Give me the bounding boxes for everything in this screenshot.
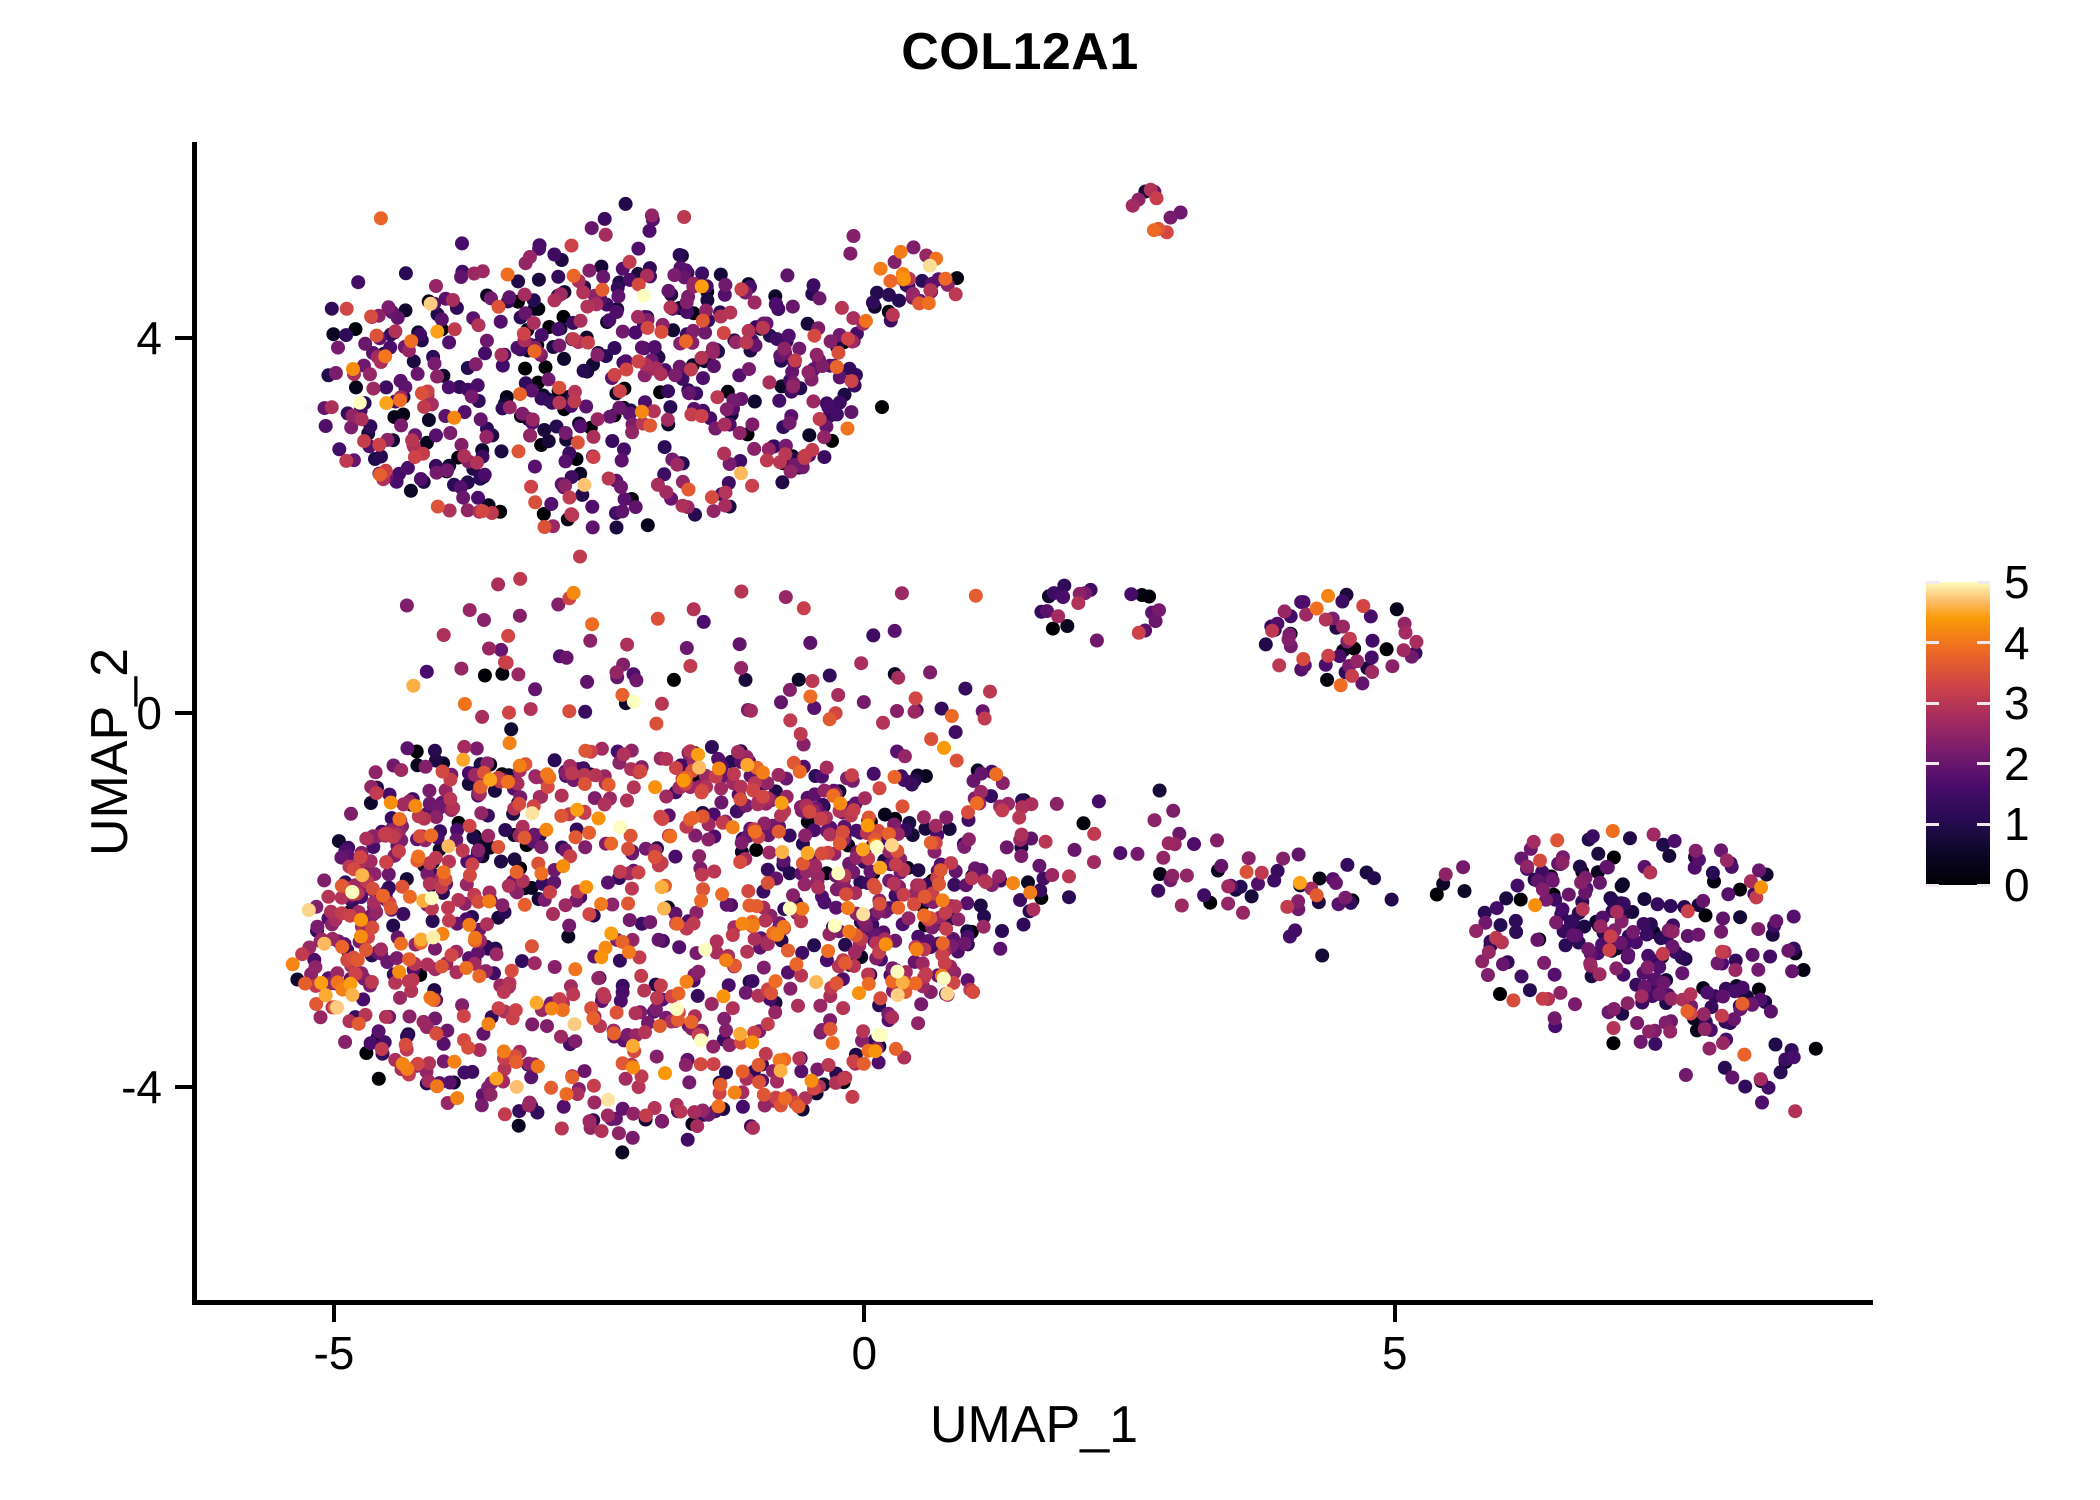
scatter-point	[539, 360, 553, 374]
scatter-point	[808, 859, 822, 873]
scatter-point	[691, 748, 705, 762]
scatter-point	[568, 1017, 582, 1031]
scatter-point	[1602, 943, 1616, 957]
scatter-point	[822, 1058, 836, 1072]
scatter-point	[490, 947, 504, 961]
scatter-point	[365, 975, 379, 989]
scatter-point	[909, 976, 923, 990]
scatter-point	[614, 480, 628, 494]
scatter-point	[648, 780, 662, 794]
scatter-point	[873, 897, 887, 911]
scatter-point	[565, 508, 579, 522]
scatter-point	[846, 311, 860, 325]
scatter-point	[446, 293, 460, 307]
scatter-point	[830, 360, 844, 374]
scatter-point	[662, 284, 676, 298]
scatter-point	[683, 659, 697, 673]
scatter-point	[331, 341, 345, 355]
scatter-point	[604, 837, 618, 851]
scatter-point	[672, 940, 686, 954]
scatter-point	[610, 521, 624, 535]
scatter-point	[790, 957, 804, 971]
scatter-point	[366, 382, 380, 396]
scatter-point	[462, 918, 476, 932]
scatter-point	[734, 661, 748, 675]
scatter-point	[353, 396, 367, 410]
scatter-point	[868, 881, 882, 895]
scatter-point	[1380, 642, 1394, 656]
scatter-point	[1456, 860, 1470, 874]
scatter-point	[1754, 880, 1768, 894]
colorbar-tick-label: 5	[2004, 555, 2030, 609]
scatter-point	[379, 380, 393, 394]
scatter-point	[404, 484, 418, 498]
scatter-point	[1039, 835, 1053, 849]
scatter-point	[802, 365, 816, 379]
scatter-point	[919, 967, 933, 981]
scatter-point	[734, 585, 748, 599]
scatter-point	[939, 906, 953, 920]
colorbar-tick-mark	[1977, 581, 1990, 584]
x-tick-label: 5	[1382, 1326, 1408, 1380]
scatter-point	[494, 855, 508, 869]
scatter-point	[1684, 987, 1698, 1001]
scatter-point	[917, 810, 931, 824]
scatter-point	[528, 495, 542, 509]
scatter-point	[1481, 968, 1495, 982]
scatter-point	[483, 773, 497, 787]
scatter-point	[740, 758, 754, 772]
scatter-point	[698, 943, 712, 957]
scatter-point	[651, 478, 665, 492]
scatter-point	[1787, 1050, 1801, 1064]
scatter-point	[528, 344, 542, 358]
scatter-point	[346, 362, 360, 376]
scatter-point	[791, 1100, 805, 1114]
scatter-point	[695, 409, 709, 423]
scatter-point	[1809, 1042, 1823, 1056]
scatter-point	[463, 868, 477, 882]
scatter-point	[602, 778, 616, 792]
scatter-point	[736, 917, 750, 931]
scatter-point	[540, 767, 554, 781]
scatter-point	[286, 957, 300, 971]
scatter-point	[388, 324, 402, 338]
scatter-point	[1152, 603, 1166, 617]
scatter-point	[631, 354, 645, 368]
scatter-point	[376, 889, 390, 903]
scatter-point	[659, 790, 673, 804]
scatter-point	[354, 930, 368, 944]
scatter-point	[1367, 871, 1381, 885]
scatter-point	[1166, 804, 1180, 818]
scatter-point	[831, 688, 845, 702]
scatter-point	[761, 1017, 775, 1031]
scatter-point	[716, 989, 730, 1003]
scatter-point	[458, 697, 472, 711]
scatter-point	[1769, 1038, 1783, 1052]
scatter-point	[402, 952, 416, 966]
scatter-point	[937, 972, 951, 986]
scatter-point	[543, 885, 557, 899]
scatter-point	[1439, 867, 1453, 881]
scatter-point	[886, 308, 900, 322]
scatter-point	[429, 810, 443, 824]
scatter-point	[815, 847, 829, 861]
scatter-point	[345, 885, 359, 899]
scatter-point	[817, 430, 831, 444]
scatter-point	[670, 1002, 684, 1016]
scatter-point	[623, 255, 637, 269]
scatter-point	[783, 902, 797, 916]
scatter-point	[581, 336, 595, 350]
scatter-point	[463, 819, 477, 833]
scatter-point	[535, 867, 549, 881]
scatter-point	[599, 228, 613, 242]
scatter-point	[653, 1019, 667, 1033]
scatter-point	[1716, 1036, 1730, 1050]
scatter-point	[445, 948, 459, 962]
scatter-point	[326, 327, 340, 341]
scatter-point	[742, 324, 756, 338]
scatter-point	[518, 898, 532, 912]
scatter-point	[627, 780, 641, 794]
scatter-point	[1621, 948, 1635, 962]
scatter-point	[528, 682, 542, 696]
scatter-point	[1012, 811, 1026, 825]
scatter-point	[1356, 599, 1370, 613]
scatter-point	[1210, 833, 1224, 847]
scatter-point	[856, 842, 870, 856]
scatter-point	[1150, 191, 1164, 205]
scatter-point	[929, 819, 943, 833]
scatter-point	[587, 1096, 601, 1110]
scatter-point	[586, 520, 600, 534]
scatter-point	[621, 897, 635, 911]
y-axis-line	[192, 142, 197, 1305]
scatter-point	[429, 279, 443, 293]
scatter-point	[870, 840, 884, 854]
scatter-point	[764, 986, 778, 1000]
scatter-point	[923, 259, 937, 273]
scatter-point	[1334, 678, 1348, 692]
scatter-point	[539, 823, 553, 837]
scatter-point	[962, 832, 976, 846]
scatter-point	[741, 884, 755, 898]
scatter-point	[505, 964, 519, 978]
scatter-point	[823, 712, 837, 726]
scatter-point	[691, 965, 705, 979]
scatter-point	[833, 796, 847, 810]
scatter-point	[650, 991, 664, 1005]
scatter-point	[655, 325, 669, 339]
scatter-point	[563, 491, 577, 505]
scatter-point	[512, 444, 526, 458]
scatter-point	[727, 767, 741, 781]
scatter-point	[456, 753, 470, 767]
scatter-point	[379, 396, 393, 410]
scatter-point	[841, 901, 855, 915]
scatter-point	[613, 384, 627, 398]
scatter-point	[1755, 1096, 1769, 1110]
scatter-point	[578, 1064, 592, 1078]
scatter-point	[1737, 1048, 1751, 1062]
scatter-point	[745, 479, 759, 493]
scatter-point	[544, 497, 558, 511]
scatter-point	[524, 702, 538, 716]
scatter-point	[883, 274, 897, 288]
scatter-point	[1278, 604, 1292, 618]
scatter-point	[793, 765, 807, 779]
scatter-point	[481, 829, 495, 843]
colorbar-legend: 543210	[1920, 575, 2090, 895]
scatter-point	[615, 1145, 629, 1159]
scatter-point	[1697, 1007, 1711, 1021]
y-tick-label: 0	[136, 686, 162, 740]
scatter-point	[374, 450, 388, 464]
scatter-point	[634, 969, 648, 983]
scatter-point	[922, 296, 936, 310]
y-tick-mark	[175, 711, 192, 715]
scatter-point	[1068, 843, 1082, 857]
scatter-point	[857, 1057, 871, 1071]
scatter-point	[707, 865, 721, 879]
scatter-point	[1343, 632, 1357, 646]
scatter-point	[552, 381, 566, 395]
scatter-point	[298, 977, 312, 991]
scatter-point	[691, 989, 705, 1003]
scatter-point	[470, 742, 484, 756]
scatter-point	[587, 430, 601, 444]
scatter-point	[1014, 849, 1028, 863]
scatter-point	[650, 1050, 664, 1064]
scatter-point	[781, 944, 795, 958]
scatter-point	[435, 312, 449, 326]
scatter-point	[372, 1072, 386, 1086]
scatter-point	[546, 907, 560, 921]
scatter-point	[1017, 918, 1031, 932]
scatter-point	[977, 920, 991, 934]
scatter-point	[598, 798, 612, 812]
scatter-point	[655, 880, 669, 894]
scatter-point	[447, 411, 461, 425]
scatter-point	[937, 741, 951, 755]
scatter-point	[876, 716, 890, 730]
scatter-point	[578, 705, 592, 719]
scatter-point	[649, 717, 663, 731]
scatter-point	[554, 809, 568, 823]
colorbar-tick-mark	[1926, 884, 1939, 887]
scatter-point	[555, 789, 569, 803]
scatter-point	[626, 1107, 640, 1121]
scatter-point	[723, 306, 737, 320]
scatter-point	[1666, 925, 1680, 939]
scatter-point	[783, 416, 797, 430]
scatter-point	[325, 302, 339, 316]
scatter-point	[924, 732, 938, 746]
scatter-point	[1615, 879, 1629, 893]
scatter-point	[338, 1035, 352, 1049]
scatter-point	[768, 1005, 782, 1019]
scatter-point	[523, 429, 537, 443]
scatter-point	[1788, 1104, 1802, 1118]
scatter-point	[1214, 859, 1228, 873]
scatter-point	[455, 236, 469, 250]
scatter-point	[695, 351, 709, 365]
scatter-point	[1553, 986, 1567, 1000]
scatter-point	[643, 915, 657, 929]
scatter-point	[641, 321, 655, 335]
scatter-point	[425, 891, 439, 905]
scatter-point	[497, 985, 511, 999]
scatter-point	[627, 695, 641, 709]
scatter-point	[1664, 899, 1678, 913]
scatter-point	[503, 736, 517, 750]
scatter-point	[1642, 1025, 1656, 1039]
scatter-point	[582, 264, 596, 278]
scatter-point	[422, 784, 436, 798]
scatter-point	[887, 877, 901, 891]
scatter-point	[325, 400, 339, 414]
scatter-point	[345, 988, 359, 1002]
scatter-point	[1045, 868, 1059, 882]
scatter-point	[780, 268, 794, 282]
scatter-point	[873, 781, 887, 795]
scatter-point	[1297, 595, 1311, 609]
scatter-point	[719, 953, 733, 967]
scatter-point	[710, 390, 724, 404]
scatter-point	[911, 1016, 925, 1030]
scatter-point	[835, 301, 849, 315]
y-tick-label: 4	[136, 311, 162, 365]
scatter-point	[698, 326, 712, 340]
scatter-point	[979, 875, 993, 889]
scatter-point	[680, 975, 694, 989]
scatter-point	[357, 434, 371, 448]
scatter-point	[1282, 633, 1296, 647]
scatter-point	[774, 695, 788, 709]
scatter-point	[399, 266, 413, 280]
scatter-point	[1132, 626, 1146, 640]
scatter-point	[647, 404, 661, 418]
scatter-point	[668, 368, 682, 382]
scatter-point	[1335, 595, 1349, 609]
scatter-point	[1549, 915, 1563, 929]
scatter-point	[498, 823, 512, 837]
scatter-point	[419, 760, 433, 774]
scatter-point	[420, 958, 434, 972]
scatter-point	[1265, 624, 1279, 638]
scatter-point	[374, 211, 388, 225]
scatter-point	[951, 912, 965, 926]
scatter-point	[625, 882, 639, 896]
scatter-point	[682, 386, 696, 400]
scatter-point	[548, 960, 562, 974]
scatter-point	[1506, 993, 1520, 1007]
scatter-point	[408, 450, 422, 464]
scatter-point	[587, 450, 601, 464]
scatter-point	[573, 550, 587, 564]
scatter-point	[512, 1119, 526, 1133]
scatter-point	[1728, 963, 1742, 977]
scatter-point	[856, 907, 870, 921]
scatter-point	[1336, 620, 1350, 634]
scatter-point	[752, 1058, 766, 1072]
scatter-point	[847, 803, 861, 817]
scatter-point	[405, 433, 419, 447]
scatter-point	[559, 898, 573, 912]
scatter-point	[696, 314, 710, 328]
scatter-point	[861, 818, 875, 832]
scatter-point	[769, 297, 783, 311]
scatter-point	[1320, 673, 1334, 687]
scatter-point	[1092, 794, 1106, 808]
scatter-point	[821, 400, 835, 414]
scatter-point	[746, 1121, 760, 1135]
scatter-point	[613, 865, 627, 879]
scatter-point	[932, 877, 946, 891]
scatter-point	[902, 911, 916, 925]
scatter-point	[639, 1109, 653, 1123]
scatter-point	[1221, 897, 1235, 911]
scatter-point	[578, 744, 592, 758]
scatter-point	[676, 499, 690, 513]
scatter-point	[319, 419, 333, 433]
scatter-point	[465, 390, 479, 404]
scatter-point	[786, 888, 800, 902]
scatter-point	[518, 831, 532, 845]
scatter-point	[430, 325, 444, 339]
scatter-point	[605, 434, 619, 448]
scatter-point	[874, 1028, 888, 1042]
scatter-point	[694, 1033, 708, 1047]
scatter-point	[798, 449, 812, 463]
scatter-point	[1221, 879, 1235, 893]
scatter-point	[1720, 853, 1734, 867]
scatter-point	[945, 709, 959, 723]
scatter-point	[694, 894, 708, 908]
scatter-point	[891, 671, 905, 685]
scatter-point	[801, 846, 815, 860]
scatter-point	[590, 348, 604, 362]
scatter-point	[355, 868, 369, 882]
scatter-point	[674, 1105, 688, 1119]
scatter-point	[1087, 827, 1101, 841]
scatter-point	[783, 713, 797, 727]
plot-panel	[196, 142, 1872, 1302]
scatter-point	[1637, 892, 1651, 906]
scatter-point	[310, 920, 324, 934]
scatter-point	[497, 1044, 511, 1058]
scatter-point	[442, 914, 456, 928]
scatter-point	[457, 1009, 471, 1023]
scatter-point	[1785, 964, 1799, 978]
scatter-point	[918, 890, 932, 904]
scatter-point	[535, 328, 549, 342]
scatter-point	[965, 871, 979, 885]
scatter-point	[615, 454, 629, 468]
x-axis-line	[192, 1300, 1873, 1305]
scatter-point	[351, 275, 365, 289]
scatter-point	[478, 468, 492, 482]
scatter-point	[1366, 634, 1380, 648]
scatter-point	[567, 586, 581, 600]
x-tick-label: -5	[313, 1326, 354, 1380]
scatter-point	[695, 785, 709, 799]
scatter-point	[495, 348, 509, 362]
scatter-point	[501, 268, 515, 282]
scatter-point	[783, 982, 797, 996]
